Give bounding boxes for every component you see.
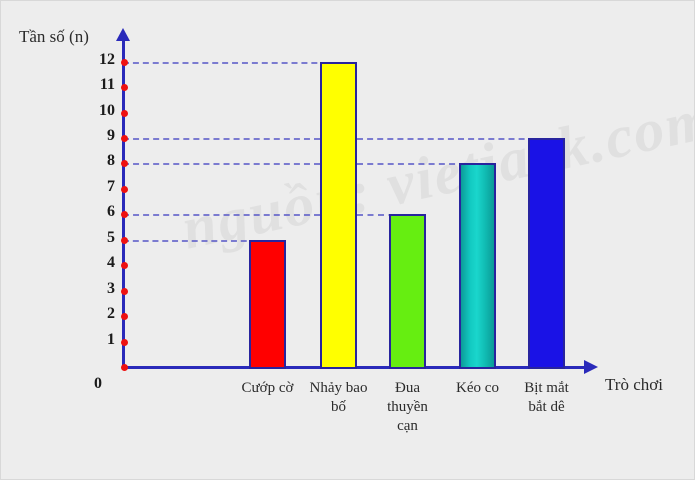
- y-tick-dot: [121, 110, 128, 117]
- bar-4: [459, 163, 496, 369]
- y-tick-dot: [121, 186, 128, 193]
- y-tick-label: 1: [85, 331, 115, 349]
- x-category-label: Đua thuyền cạn: [377, 379, 439, 437]
- x-category-label: Nhảy bao bố: [308, 379, 370, 417]
- y-tick-label: 2: [85, 305, 115, 323]
- bar-3: [389, 214, 426, 369]
- bar-5: [528, 138, 565, 369]
- gridline: [123, 163, 320, 165]
- x-axis-title: Trò chơi: [605, 375, 663, 395]
- y-tick-label: 4: [85, 254, 115, 272]
- origin-label: 0: [94, 375, 102, 393]
- y-tick-label: 10: [85, 102, 115, 120]
- y-tick-label: 3: [85, 280, 115, 298]
- gridline: [123, 214, 320, 216]
- bar-chart-figure: nguồn: vietjack.com Tần số (n) Trò chơi …: [0, 0, 695, 480]
- y-tick-dot: [121, 160, 128, 167]
- origin-dot: [121, 364, 128, 371]
- watermark-text: nguồn: vietjack.com: [176, 119, 567, 333]
- y-tick-dot: [121, 313, 128, 320]
- y-tick-dot: [121, 84, 128, 91]
- x-category-label: Cướp cờ: [237, 379, 299, 398]
- y-tick-label: 6: [85, 203, 115, 221]
- y-tick-dot: [121, 288, 128, 295]
- y-tick-label: 9: [85, 127, 115, 145]
- x-axis-arrow-icon: [584, 360, 598, 374]
- x-category-label: Kéo co: [447, 379, 509, 398]
- x-category-label: Bịt mắt bắt dê: [516, 379, 578, 417]
- y-tick-dot: [121, 211, 128, 218]
- y-tick-dot: [121, 135, 128, 142]
- y-tick-label: 5: [85, 229, 115, 247]
- bar-1: [249, 240, 286, 369]
- y-tick-label: 11: [85, 76, 115, 94]
- y-tick-dot: [121, 339, 128, 346]
- y-axis-arrow-icon: [116, 28, 130, 41]
- y-tick-dot: [121, 262, 128, 269]
- y-tick-label: 7: [85, 178, 115, 196]
- y-tick-label: 12: [85, 51, 115, 69]
- gridline: [123, 138, 320, 140]
- y-tick-dot: [121, 59, 128, 66]
- y-tick-label: 8: [85, 152, 115, 170]
- y-axis-title: Tần số (n): [19, 27, 89, 47]
- y-tick-dot: [121, 237, 128, 244]
- bar-2: [320, 62, 357, 369]
